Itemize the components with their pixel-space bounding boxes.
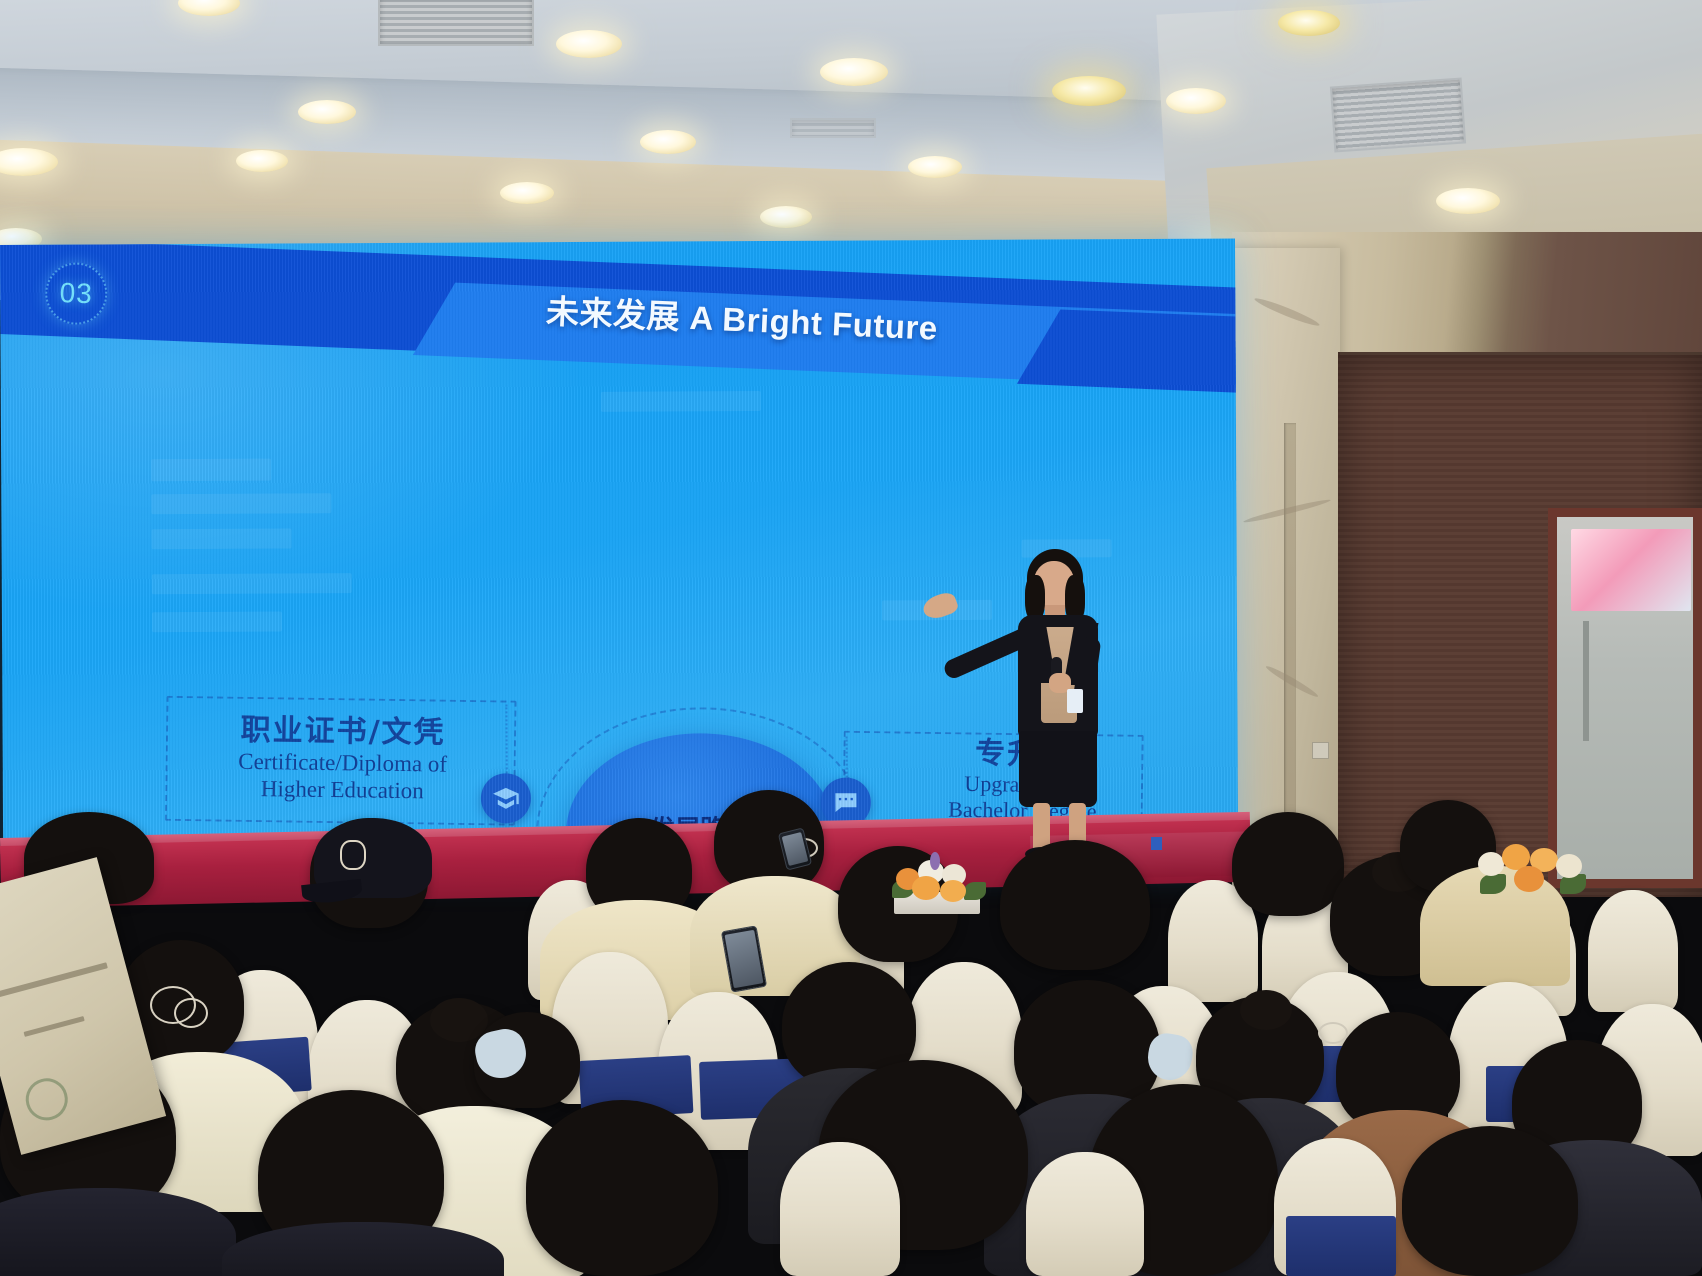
flower-petal bbox=[912, 876, 940, 900]
attendee-head bbox=[1000, 840, 1150, 970]
flower-petal bbox=[1478, 852, 1504, 876]
presenter bbox=[985, 545, 1120, 865]
attendee-head bbox=[1232, 812, 1344, 916]
flower-leaf bbox=[964, 882, 986, 900]
ceiling-downlight bbox=[500, 182, 554, 204]
flower-leaf bbox=[1480, 874, 1506, 894]
flower-petal bbox=[1556, 854, 1582, 878]
column-groove bbox=[1284, 423, 1296, 853]
background-texture bbox=[601, 391, 761, 412]
side-flower-arrangement bbox=[1474, 838, 1594, 908]
chair-sash bbox=[1286, 1216, 1396, 1276]
ceiling-downlight bbox=[556, 30, 622, 58]
background-texture bbox=[151, 493, 331, 514]
wall-seam bbox=[1340, 352, 1702, 355]
ceiling-downlight bbox=[1436, 188, 1500, 214]
node-en-line2: Higher Education bbox=[192, 774, 492, 805]
chair bbox=[1026, 1152, 1144, 1276]
ceiling-downlight bbox=[640, 130, 696, 154]
conference-photo-scene: 03 发展路径 Development path bbox=[0, 0, 1702, 1276]
ceiling-downlight bbox=[908, 156, 962, 178]
node-cn-label: 职业证书/文凭 bbox=[193, 713, 493, 751]
attendee-head bbox=[526, 1100, 718, 1276]
attendee-head bbox=[1402, 1126, 1578, 1276]
badge-accent bbox=[1151, 837, 1162, 850]
stage-flower-arrangement bbox=[890, 852, 990, 914]
node-en-line1: Certificate/Diploma of bbox=[192, 747, 492, 778]
hair-clip bbox=[174, 998, 208, 1028]
air-conditioning-vent bbox=[790, 118, 876, 138]
presenter-skirt bbox=[1019, 731, 1097, 807]
door-frame-stripe bbox=[1583, 621, 1589, 741]
presenter-name-badge bbox=[1067, 689, 1083, 713]
chair bbox=[780, 1142, 900, 1276]
flower-petal bbox=[930, 852, 940, 870]
doorway[interactable] bbox=[1548, 508, 1702, 888]
wall-power-socket bbox=[1312, 742, 1329, 759]
section-number-badge: 03 bbox=[29, 263, 123, 324]
ceiling-downlight bbox=[236, 150, 288, 172]
air-conditioning-vent bbox=[1330, 77, 1466, 152]
booklet-text-line bbox=[0, 962, 108, 998]
hair-bun bbox=[430, 998, 488, 1042]
background-texture bbox=[152, 612, 282, 633]
flower-petal bbox=[940, 880, 966, 902]
air-conditioning-vent bbox=[378, 0, 534, 46]
chair bbox=[1588, 890, 1678, 1012]
section-number-text: 03 bbox=[59, 277, 93, 310]
background-texture bbox=[152, 573, 352, 594]
background-texture bbox=[151, 459, 271, 482]
marble-vein bbox=[1253, 295, 1321, 329]
booklet-text-line bbox=[24, 1016, 85, 1037]
eyeglasses bbox=[1318, 1022, 1348, 1044]
ceiling-downlight bbox=[1052, 76, 1126, 106]
ceiling-downlight bbox=[298, 100, 356, 124]
ceiling-downlight bbox=[1278, 10, 1340, 36]
background-texture bbox=[151, 528, 291, 549]
connector-line bbox=[505, 704, 507, 776]
ceiling-downlight bbox=[1166, 88, 1226, 114]
door-poster bbox=[1571, 529, 1691, 611]
baseball-cap bbox=[314, 818, 432, 898]
ceiling-downlight bbox=[760, 206, 812, 228]
cap-emblem bbox=[340, 840, 366, 870]
node-label-certificate: 职业证书/文凭 Certificate/Diploma of Higher Ed… bbox=[192, 713, 493, 805]
booklet-seal bbox=[21, 1074, 72, 1125]
hair-bun bbox=[1240, 990, 1292, 1030]
flower-petal bbox=[1514, 866, 1544, 892]
ceiling-downlight bbox=[820, 58, 888, 86]
marble-column bbox=[1232, 248, 1340, 888]
